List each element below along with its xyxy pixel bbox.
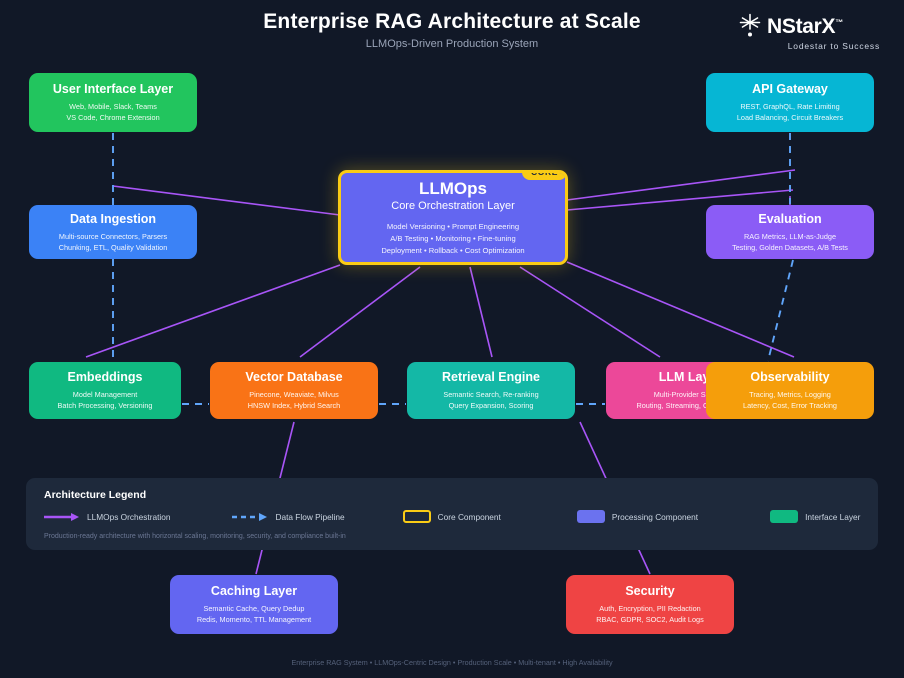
legend-item-interface-layer: Interface Layer (770, 510, 860, 523)
wire-core-to-embeddings (86, 265, 340, 357)
legend-item-llmops-orchestration: LLMOps Orchestration (44, 512, 170, 522)
node-title: Security (625, 584, 674, 599)
node-detail-line: Query Expansion, Scoring (449, 400, 534, 411)
node-api-gateway[interactable]: API GatewayREST, GraphQL, Rate LimitingL… (706, 73, 874, 132)
node-detail-line: VS Code, Chrome Extension (66, 112, 159, 123)
footer-text: Enterprise RAG System • LLMOps-Centric D… (0, 658, 904, 667)
node-title: Vector Database (245, 370, 342, 385)
node-evaluation[interactable]: EvaluationRAG Metrics, LLM-as-JudgeTesti… (706, 205, 874, 259)
node-detail-line: HNSW Index, Hybrid Search (248, 400, 340, 411)
legend-title: Architecture Legend (44, 489, 860, 501)
node-detail-line: Load Balancing, Circuit Breakers (737, 112, 843, 123)
node-title: Observability (750, 370, 829, 385)
node-title: Evaluation (758, 212, 821, 227)
wire-core-to-llm-layer (520, 267, 660, 357)
node-detail-line: Semantic Search, Re-ranking (443, 389, 538, 400)
node-detail-line: Batch Processing, Versioning (58, 400, 153, 411)
node-detail-line: Auth, Encryption, PII Redaction (599, 603, 700, 614)
core-badge: CORE (522, 170, 567, 180)
legend-item-label: LLMOps Orchestration (87, 512, 170, 522)
node-title: Caching Layer (211, 584, 297, 599)
node-title: Retrieval Engine (442, 370, 540, 385)
node-detail-line: Pinecone, Weaviate, Milvus (249, 389, 339, 400)
core-subtitle: Core Orchestration Layer (391, 199, 515, 214)
node-detail-line: Multi-source Connectors, Parsers (59, 231, 167, 242)
wire-core-to-vector-db (300, 267, 420, 357)
node-title: Embeddings (67, 370, 142, 385)
node-detail-line: RBAC, GDPR, SOC2, Audit Logs (596, 614, 703, 625)
legend-items: LLMOps OrchestrationData Flow PipelineCo… (44, 510, 860, 523)
dashed-arrow-icon (232, 512, 268, 522)
solid-arrow-icon (44, 512, 80, 522)
core-detail-line: A/B Testing • Monitoring • Fine-tuning (390, 233, 515, 245)
core-title: LLMOps (419, 178, 487, 199)
node-llmops-core[interactable]: CORELLMOpsCore Orchestration LayerModel … (338, 170, 568, 265)
node-embeddings[interactable]: EmbeddingsModel ManagementBatch Processi… (29, 362, 181, 419)
legend-note: Production-ready architecture with horiz… (44, 533, 860, 540)
legend-item-label: Data Flow Pipeline (275, 512, 344, 522)
node-detail-line: REST, GraphQL, Rate Limiting (740, 101, 839, 112)
node-detail-line: Redis, Momento, TTL Management (197, 614, 311, 625)
node-vector-database[interactable]: Vector DatabasePinecone, Weaviate, Milvu… (210, 362, 378, 419)
legend-item-label: Interface Layer (805, 512, 860, 522)
wire-evaluation-to-observability (768, 260, 793, 361)
color-swatch (770, 510, 798, 523)
node-retrieval-engine[interactable]: Retrieval EngineSemantic Search, Re-rank… (407, 362, 575, 419)
node-detail-line: Chunking, ETL, Quality Validation (59, 242, 168, 253)
legend-item-core-component: Core Component (403, 510, 501, 523)
node-title: User Interface Layer (53, 82, 173, 97)
core-detail-line: Deployment • Rollback • Cost Optimizatio… (381, 245, 524, 257)
architecture-legend: Architecture Legend LLMOps Orchestration… (26, 478, 878, 550)
legend-item-label: Processing Component (612, 512, 698, 522)
wire-core-to-observability (567, 262, 794, 357)
legend-item-data-flow-pipeline: Data Flow Pipeline (232, 512, 344, 522)
node-observability[interactable]: ObservabilityTracing, Metrics, LoggingLa… (706, 362, 874, 419)
node-user-interface-layer[interactable]: User Interface LayerWeb, Mobile, Slack, … (29, 73, 197, 132)
core-detail-line: Model Versioning • Prompt Engineering (387, 221, 519, 233)
color-swatch (577, 510, 605, 523)
node-caching-layer[interactable]: Caching LayerSemantic Cache, Query Dedup… (170, 575, 338, 634)
node-detail-line: Model Management (73, 389, 138, 400)
node-title: API Gateway (752, 82, 828, 97)
node-detail-line: Tracing, Metrics, Logging (749, 389, 831, 400)
node-detail-line: Web, Mobile, Slack, Teams (69, 101, 157, 112)
node-detail-line: RAG Metrics, LLM-as-Judge (744, 231, 836, 242)
wire-core-to-retrieval (470, 267, 492, 357)
node-detail-line: Semantic Cache, Query Dedup (204, 603, 305, 614)
legend-item-processing-component: Processing Component (577, 510, 698, 523)
node-detail-line: Latency, Cost, Error Tracking (743, 400, 837, 411)
node-security[interactable]: SecurityAuth, Encryption, PII RedactionR… (566, 575, 734, 634)
diagram-canvas: Enterprise RAG Architecture at Scale LLM… (0, 0, 904, 678)
wire-core-to-api-gateway (567, 170, 795, 200)
node-data-ingestion[interactable]: Data IngestionMulti-source Connectors, P… (29, 205, 197, 259)
node-title: Data Ingestion (70, 212, 156, 227)
legend-item-label: Core Component (438, 512, 501, 522)
node-detail-line: Testing, Golden Datasets, A/B Tests (732, 242, 848, 253)
core-outline-swatch (403, 510, 431, 523)
